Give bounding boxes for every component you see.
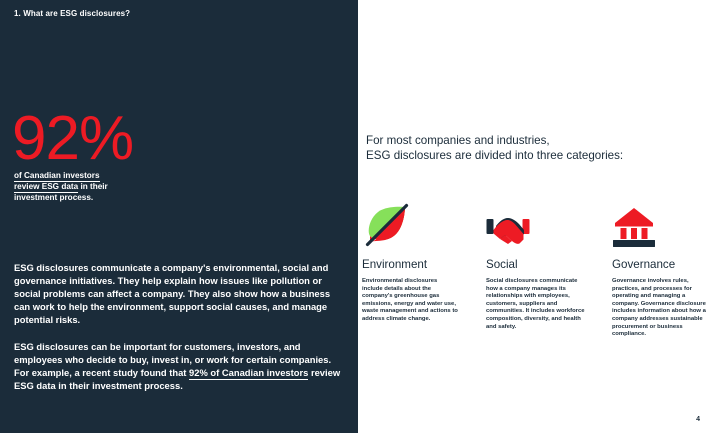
category-body-social: Social disclosures communicate how a com… [474, 278, 586, 331]
category-environment: Environment Environmental disclosures in… [362, 196, 474, 339]
category-body-environment: Environmental disclosures include detail… [362, 278, 458, 324]
stat-caption-line-2: review ESG data [14, 182, 78, 193]
page-number: 4 [696, 416, 700, 423]
category-social: Social Social disclosures communicate ho… [474, 196, 588, 339]
right-heading-line-1: For most companies and industries, [366, 134, 550, 147]
right-heading: For most companies and industries, ESG d… [366, 133, 623, 163]
right-panel: For most companies and industries, ESG d… [358, 0, 714, 433]
bank-icon [588, 196, 708, 248]
leaf-icon [362, 196, 474, 248]
stat-caption: of Canadian investors review ESG data in… [14, 170, 194, 204]
slide-root: 1. What are ESG disclosures? 92% of Cana… [0, 0, 714, 433]
stat-caption-line-3: in their [78, 182, 108, 191]
category-list: Environment Environmental disclosures in… [362, 196, 714, 339]
left-paragraph-1: ESG disclosures communicate a company's … [14, 261, 344, 326]
left-paragraph-2-highlight: 92% of Canadian investors [189, 367, 308, 380]
category-body-governance: Governance involves rules, practices, an… [588, 278, 710, 339]
stat-value: 92% [12, 108, 133, 170]
left-panel: 1. What are ESG disclosures? 92% of Cana… [0, 0, 358, 433]
category-title-social: Social [474, 258, 588, 271]
right-heading-line-2: ESG disclosures are divided into three c… [366, 149, 623, 162]
stat-caption-line-4: investment process. [14, 193, 93, 202]
page-title: 1. What are ESG disclosures? [14, 9, 130, 18]
left-paragraph-2: ESG disclosures can be important for cus… [14, 340, 344, 392]
stat-caption-line-1: of Canadian investors [14, 171, 100, 182]
category-title-environment: Environment [362, 258, 474, 271]
handshake-icon [474, 196, 588, 248]
category-governance: Governance Governance involves rules, pr… [588, 196, 708, 339]
category-title-governance: Governance [588, 258, 708, 271]
